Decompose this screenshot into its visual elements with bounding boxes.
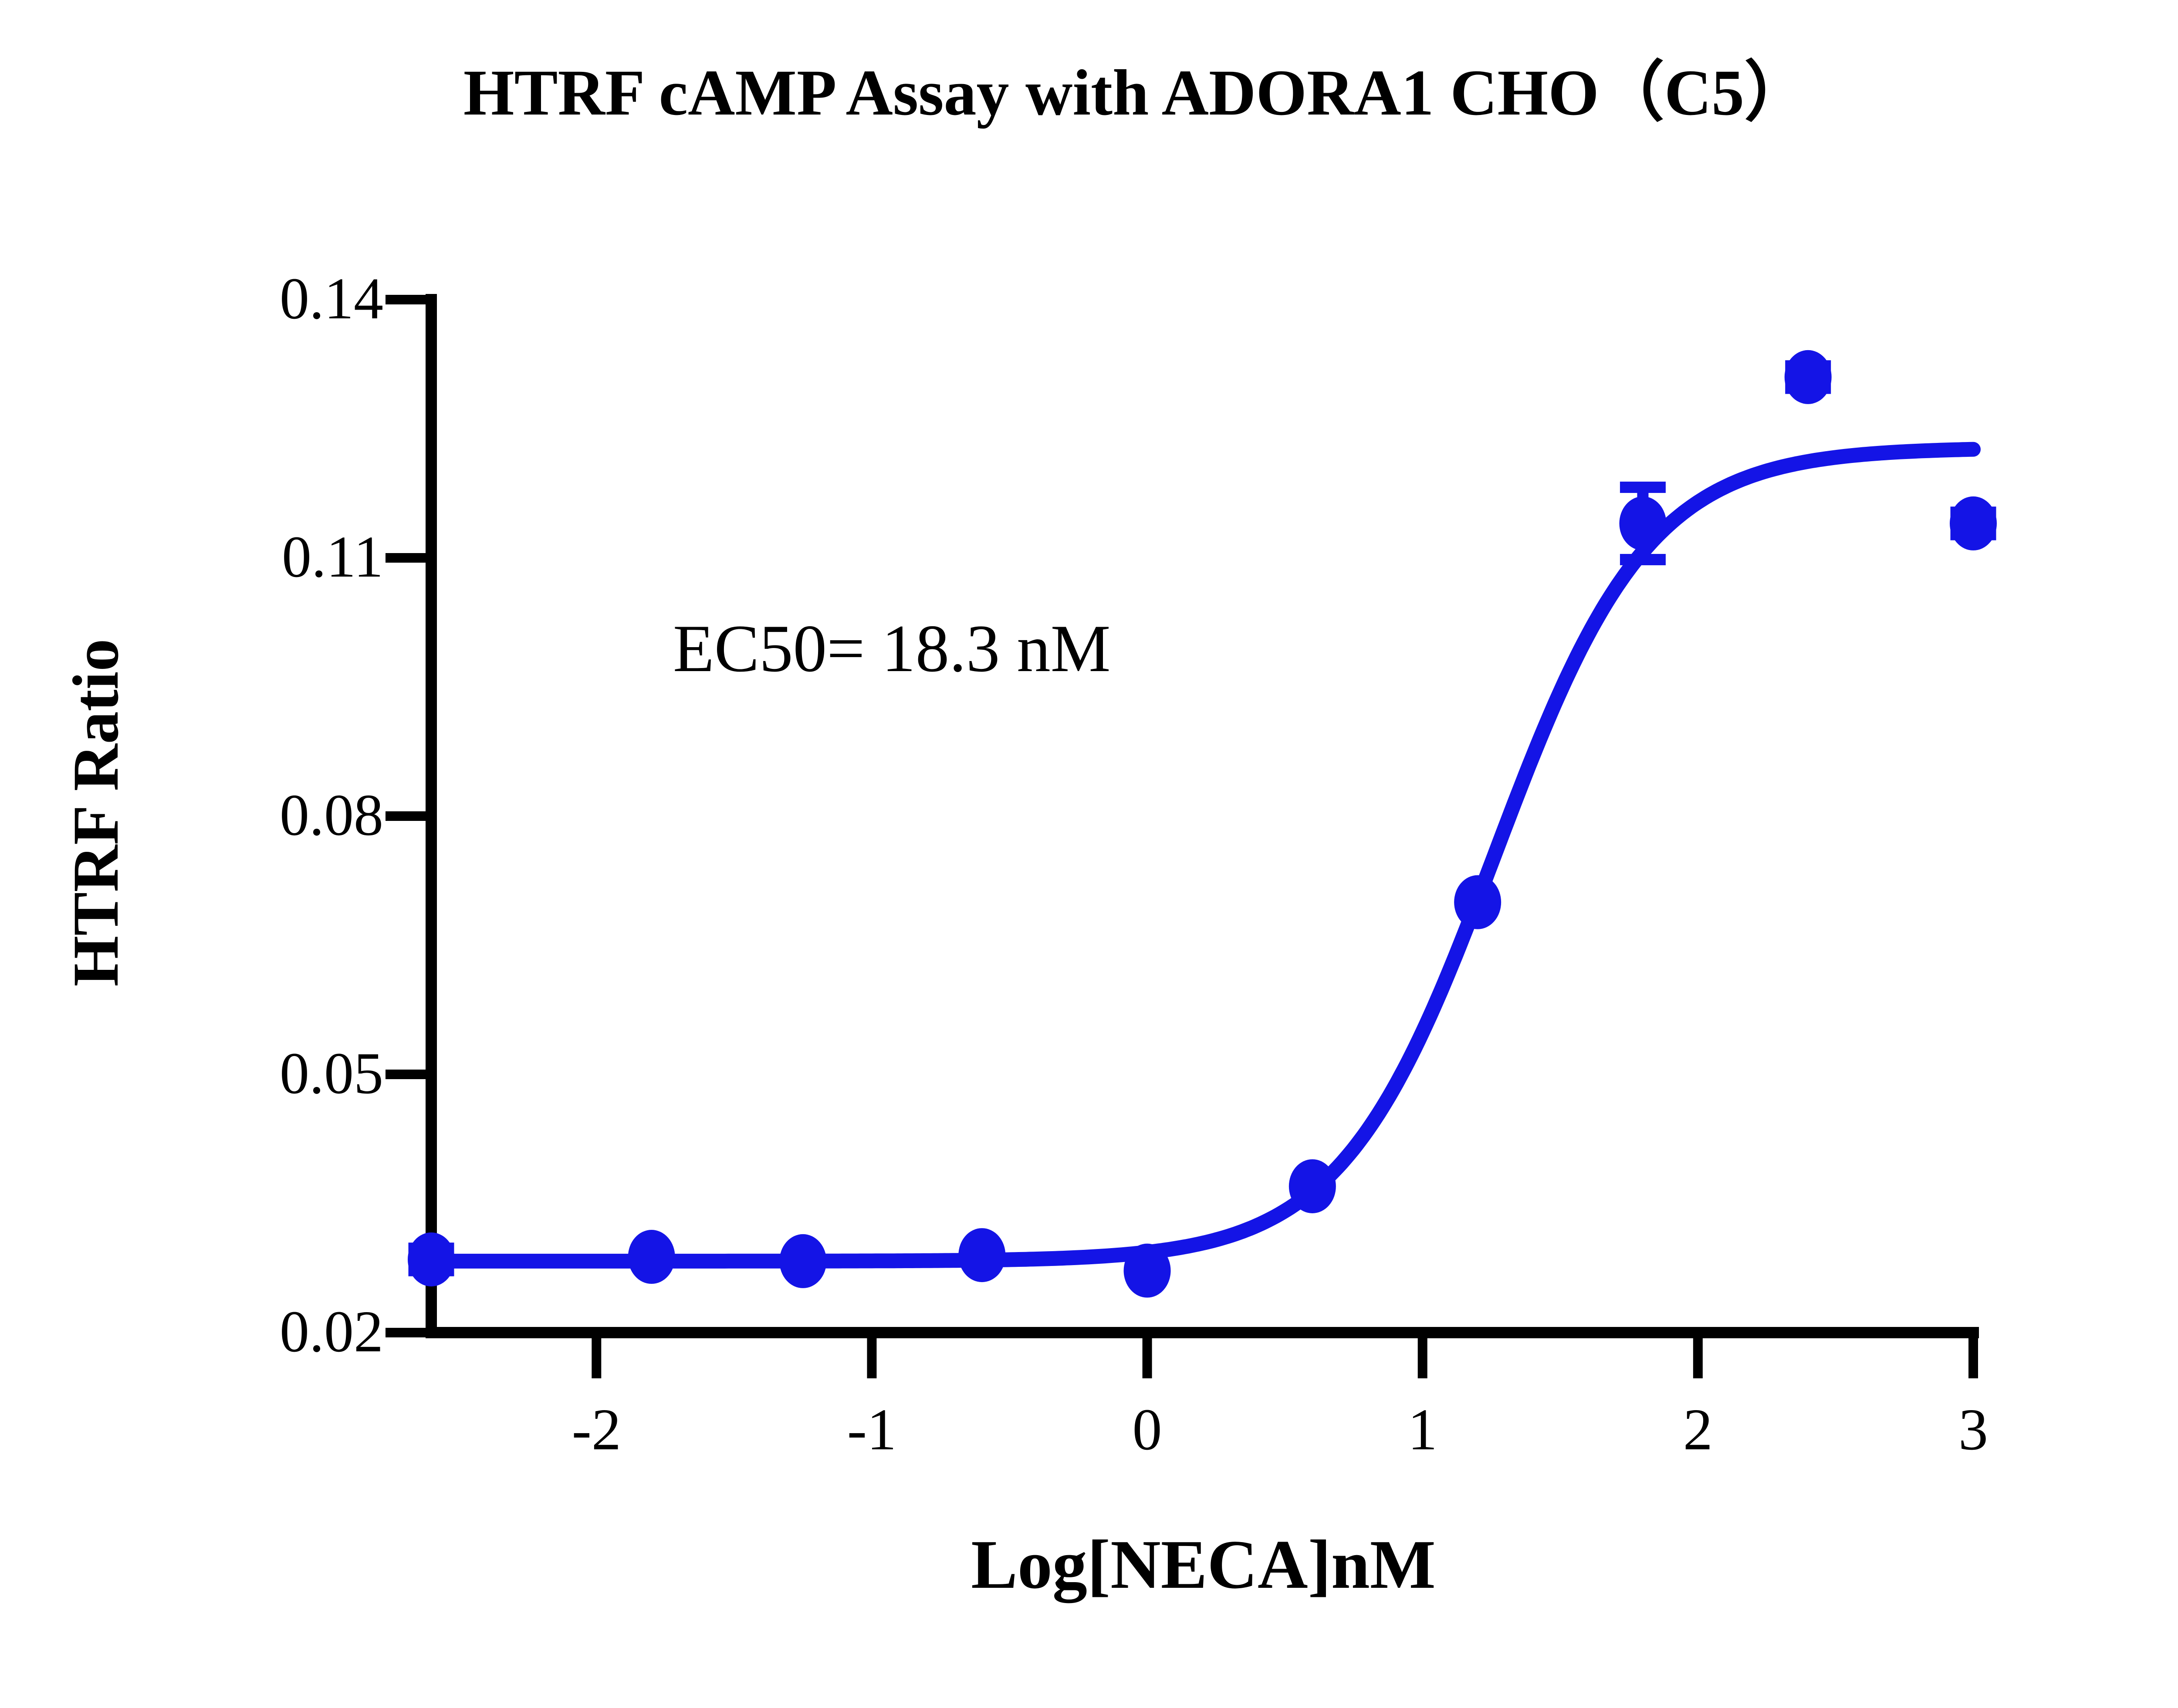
x-tick-0 (592, 1338, 601, 1378)
x-tick-label-2: 0 (1060, 1400, 1234, 1459)
data-point-9 (1950, 496, 1997, 550)
data-point-7 (1619, 496, 1666, 550)
y-axis-line (426, 294, 437, 1338)
data-point-8 (1785, 350, 1832, 404)
chart-figure: HTRF cAMP Assay with ADORA1 CHO（C5） 0.02… (0, 0, 2178, 1708)
data-point-4 (1124, 1244, 1171, 1298)
x-tick-2 (1143, 1338, 1152, 1378)
y-tick-label-0: 0.02 (61, 1302, 383, 1361)
data-point-5 (1289, 1159, 1336, 1213)
ec50-annotation: EC50= 18.3 nM (673, 610, 1111, 688)
x-tick-label-1: -1 (785, 1400, 959, 1459)
data-point-1 (628, 1230, 675, 1284)
x-tick-label-0: -2 (509, 1400, 683, 1459)
y-tick-2 (386, 811, 426, 821)
y-tick-label-4: 0.14 (61, 269, 383, 328)
data-point-2 (779, 1234, 826, 1288)
y-tick-1 (386, 1070, 426, 1079)
x-tick-label-5: 3 (1886, 1400, 2060, 1459)
data-point-3 (958, 1228, 1005, 1282)
x-tick-4 (1693, 1338, 1703, 1378)
fit-curve (431, 449, 1973, 1261)
x-axis-title: Log[NECA]nM (431, 1524, 1975, 1605)
data-points-group (408, 350, 1997, 1298)
error-bar-cap-bottom-7 (1620, 554, 1666, 565)
x-tick-3 (1418, 1338, 1427, 1378)
data-point-0 (408, 1232, 455, 1286)
data-point-6 (1454, 875, 1501, 929)
x-tick-5 (1968, 1338, 1978, 1378)
y-axis-title: HTRF Ratio (58, 551, 133, 1074)
axes-group (386, 294, 1979, 1378)
y-tick-0 (386, 1328, 426, 1337)
x-axis-line (426, 1327, 1979, 1338)
y-tick-4 (386, 295, 426, 304)
error-bar-cap-top-7 (1620, 482, 1666, 493)
x-tick-label-4: 2 (1611, 1400, 1785, 1459)
x-tick-1 (867, 1338, 876, 1378)
x-tick-label-3: 1 (1336, 1400, 1510, 1459)
fit-curve-group (431, 449, 1973, 1261)
error-bars-group (409, 360, 1996, 1276)
y-tick-3 (386, 553, 426, 563)
